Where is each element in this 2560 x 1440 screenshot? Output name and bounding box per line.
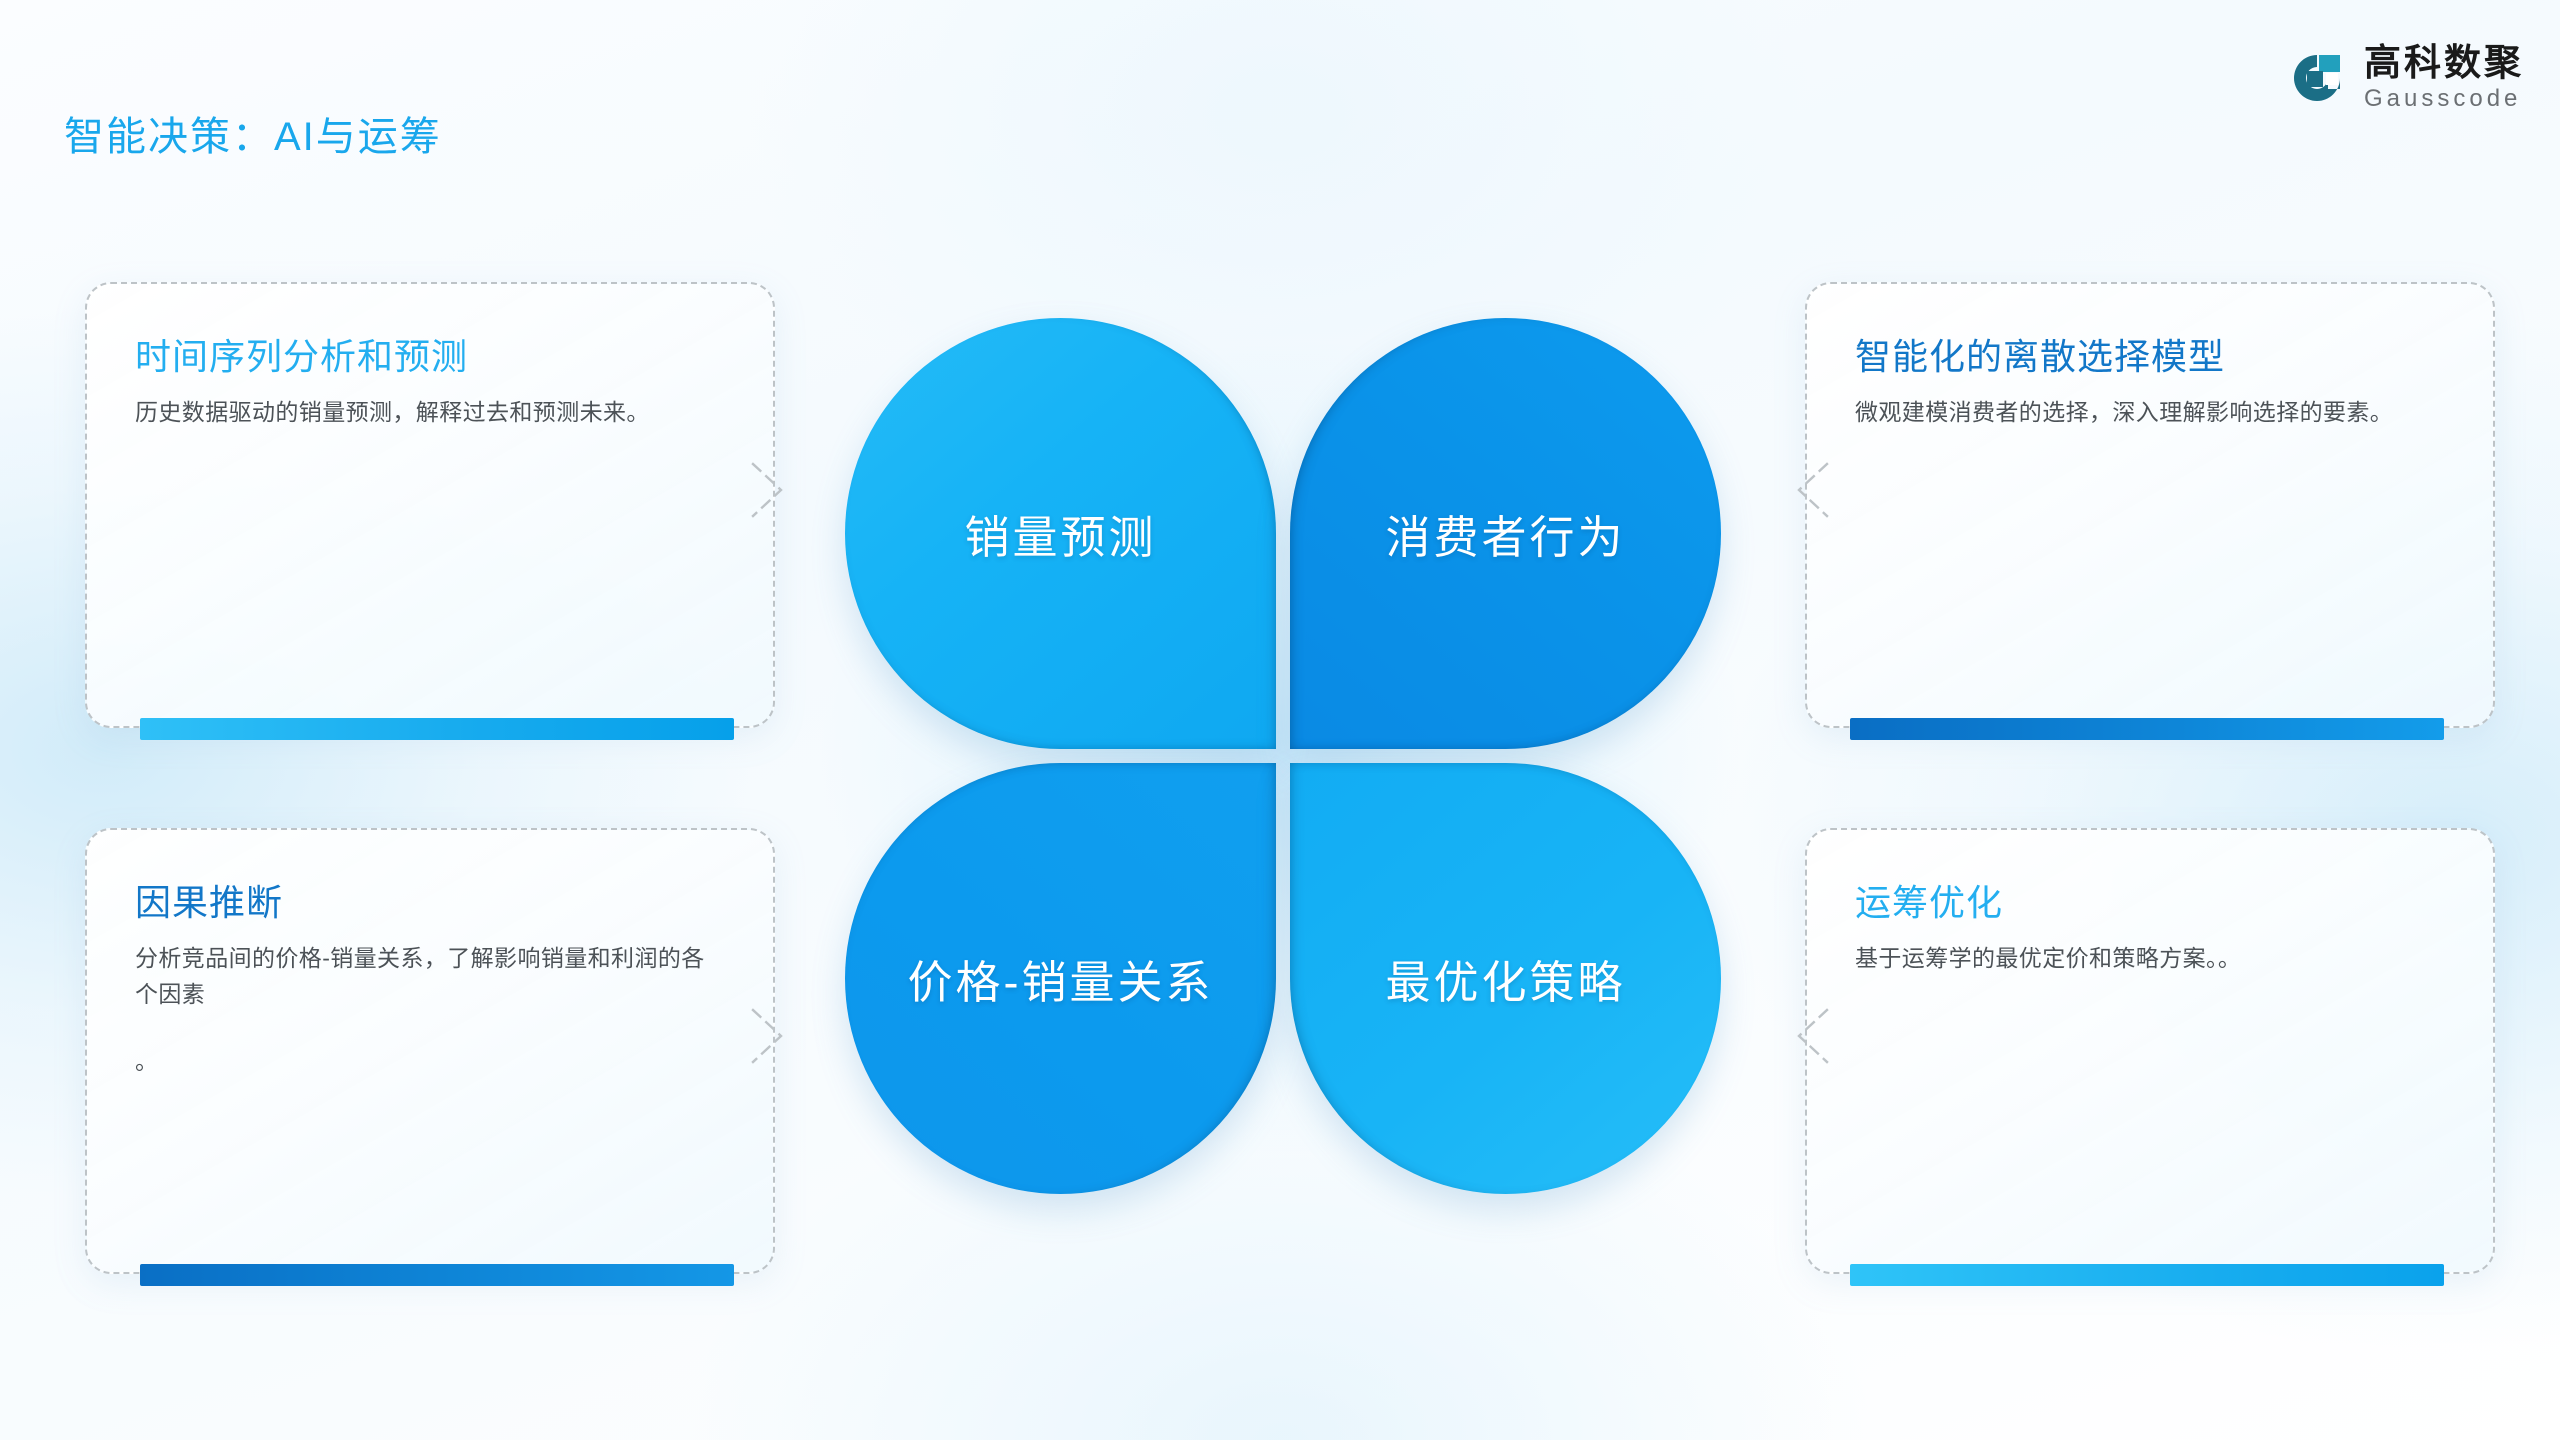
card-body-text: 微观建模消费者的选择，深入理解影响选择的要素。	[1855, 399, 2393, 425]
card-content: 因果推断 分析竞品间的价格-销量关系，了解影响销量和利润的各个因素 。	[87, 830, 773, 1272]
brand-wordmark: 高科数聚 Gausscode	[2364, 44, 2524, 111]
card-accent-bar	[140, 1264, 734, 1286]
card-body-tail: 。	[135, 1043, 725, 1079]
petal-label: 最优化策略	[1385, 946, 1625, 1011]
brand-name-cn: 高科数聚	[2364, 44, 2524, 81]
connector-arrow-left-icon	[1783, 1008, 1829, 1064]
card-content: 运筹优化 基于运筹学的最优定价和策略方案。。	[1807, 830, 2493, 1272]
card-causal-inference[interactable]: 因果推断 分析竞品间的价格-销量关系，了解影响销量和利润的各个因素 。	[85, 828, 775, 1274]
brand-logo: 高科数聚 Gausscode	[2288, 44, 2524, 111]
card-title: 因果推断	[135, 874, 725, 926]
card-body: 微观建模消费者的选择，深入理解影响选择的要素。	[1855, 394, 2445, 430]
card-time-series[interactable]: 时间序列分析和预测 历史数据驱动的销量预测，解释过去和预测未来。	[85, 282, 775, 728]
card-content: 智能化的离散选择模型 微观建模消费者的选择，深入理解影响选择的要素。	[1807, 284, 2493, 726]
card-operations-research[interactable]: 运筹优化 基于运筹学的最优定价和策略方案。。	[1805, 828, 2495, 1274]
card-body-text: 基于运筹学的最优定价和策略方案。。	[1855, 945, 2241, 971]
connector-arrow-right-icon	[751, 462, 797, 518]
card-body-text: 分析竞品间的价格-销量关系，了解影响销量和利润的各个因素	[135, 945, 705, 1007]
petal-optimal-strategy[interactable]: 最优化策略	[1290, 763, 1721, 1194]
petal-label: 价格-销量关系	[908, 946, 1214, 1011]
connector-arrow-left-icon	[1783, 462, 1829, 518]
petal-label: 消费者行为	[1385, 501, 1625, 566]
card-content: 时间序列分析和预测 历史数据驱动的销量预测，解释过去和预测未来。	[87, 284, 773, 726]
card-body: 基于运筹学的最优定价和策略方案。。	[1855, 940, 2445, 976]
petal-consumer-behavior[interactable]: 消费者行为	[1290, 318, 1721, 749]
card-title: 智能化的离散选择模型	[1855, 328, 2445, 380]
connector-arrow-right-icon	[751, 1008, 797, 1064]
page-title: 智能决策：AI与运筹	[64, 104, 442, 162]
clover-diagram: 销量预测 消费者行为 价格-销量关系 最优化策略	[845, 318, 1721, 1194]
card-accent-bar	[1850, 1264, 2444, 1286]
card-accent-bar	[140, 718, 734, 740]
card-title: 时间序列分析和预测	[135, 328, 725, 380]
petal-label: 销量预测	[964, 501, 1156, 566]
card-body: 历史数据驱动的销量预测，解释过去和预测未来。	[135, 394, 725, 430]
card-accent-bar	[1850, 718, 2444, 740]
card-body-text: 历史数据驱动的销量预测，解释过去和预测未来。	[135, 399, 650, 425]
card-body: 分析竞品间的价格-销量关系，了解影响销量和利润的各个因素 。	[135, 940, 725, 1079]
petal-sales-forecast[interactable]: 销量预测	[845, 318, 1276, 749]
gausscode-logo-icon	[2288, 49, 2346, 107]
petal-price-sales-relation[interactable]: 价格-销量关系	[845, 763, 1276, 1194]
card-title: 运筹优化	[1855, 874, 2445, 926]
card-discrete-choice[interactable]: 智能化的离散选择模型 微观建模消费者的选择，深入理解影响选择的要素。	[1805, 282, 2495, 728]
brand-name-en: Gausscode	[2364, 87, 2524, 111]
